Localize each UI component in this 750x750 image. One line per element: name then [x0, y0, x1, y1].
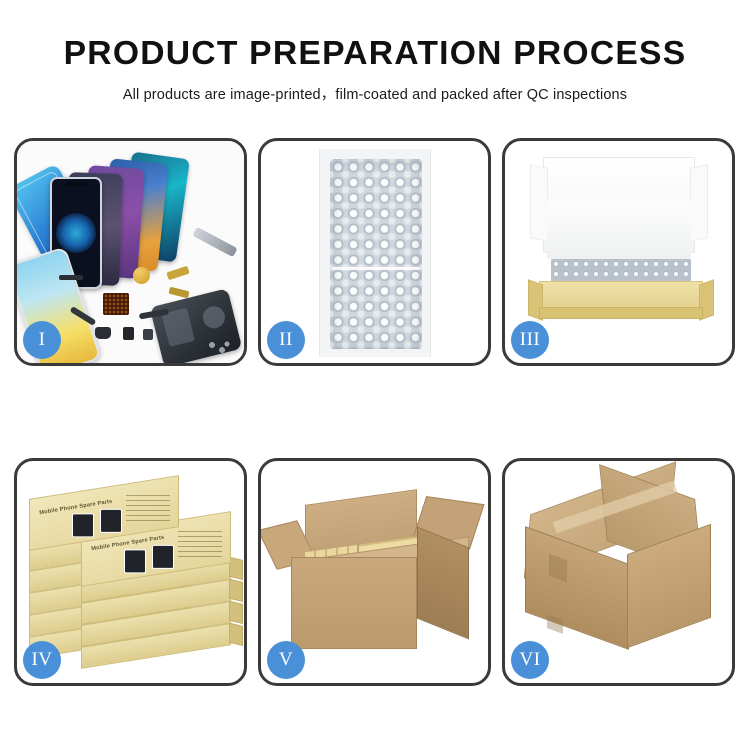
chip-grid-part: [103, 293, 129, 315]
step-panel-3: III: [502, 138, 735, 366]
carton-side-face: [417, 526, 469, 639]
step-panel-5: V: [258, 458, 491, 686]
step-panel-2: II: [258, 138, 491, 366]
step-badge-3: III: [511, 321, 549, 359]
product-preparation-infographic: PRODUCT PREPARATION PROCESS All products…: [0, 0, 750, 750]
step-panel-6: VI: [502, 458, 735, 686]
step-badge-2: II: [267, 321, 305, 359]
page-title: PRODUCT PREPARATION PROCESS: [0, 34, 750, 72]
step-badge-4: IV: [23, 641, 61, 679]
step-badge-1: I: [23, 321, 61, 359]
screws-part: [208, 341, 230, 355]
mailer-foam-insert: [547, 201, 691, 259]
vibration-motor-part: [133, 267, 150, 284]
speaker-part: [95, 327, 111, 339]
step-badge-5: V: [267, 641, 305, 679]
small-component-a: [123, 327, 134, 340]
bubble-wrap-pouch: [319, 149, 431, 357]
bubble-pattern: [330, 159, 422, 349]
header: PRODUCT PREPARATION PROCESS All products…: [0, 0, 750, 104]
process-steps-grid: I II III: [14, 138, 736, 686]
pouch-seam: [332, 267, 420, 270]
carton-front-face: [291, 557, 417, 649]
mailer-front-edge: [539, 307, 703, 319]
small-component-b: [143, 329, 153, 340]
page-subtitle: All products are image-printed，film-coat…: [0, 83, 750, 104]
step-panel-4: Mobile Phone Spare Parts Mobile Phone Sp…: [14, 458, 247, 686]
step-badge-6: VI: [511, 641, 549, 679]
step-panel-1: I: [14, 138, 247, 366]
earpiece-part: [59, 275, 83, 280]
